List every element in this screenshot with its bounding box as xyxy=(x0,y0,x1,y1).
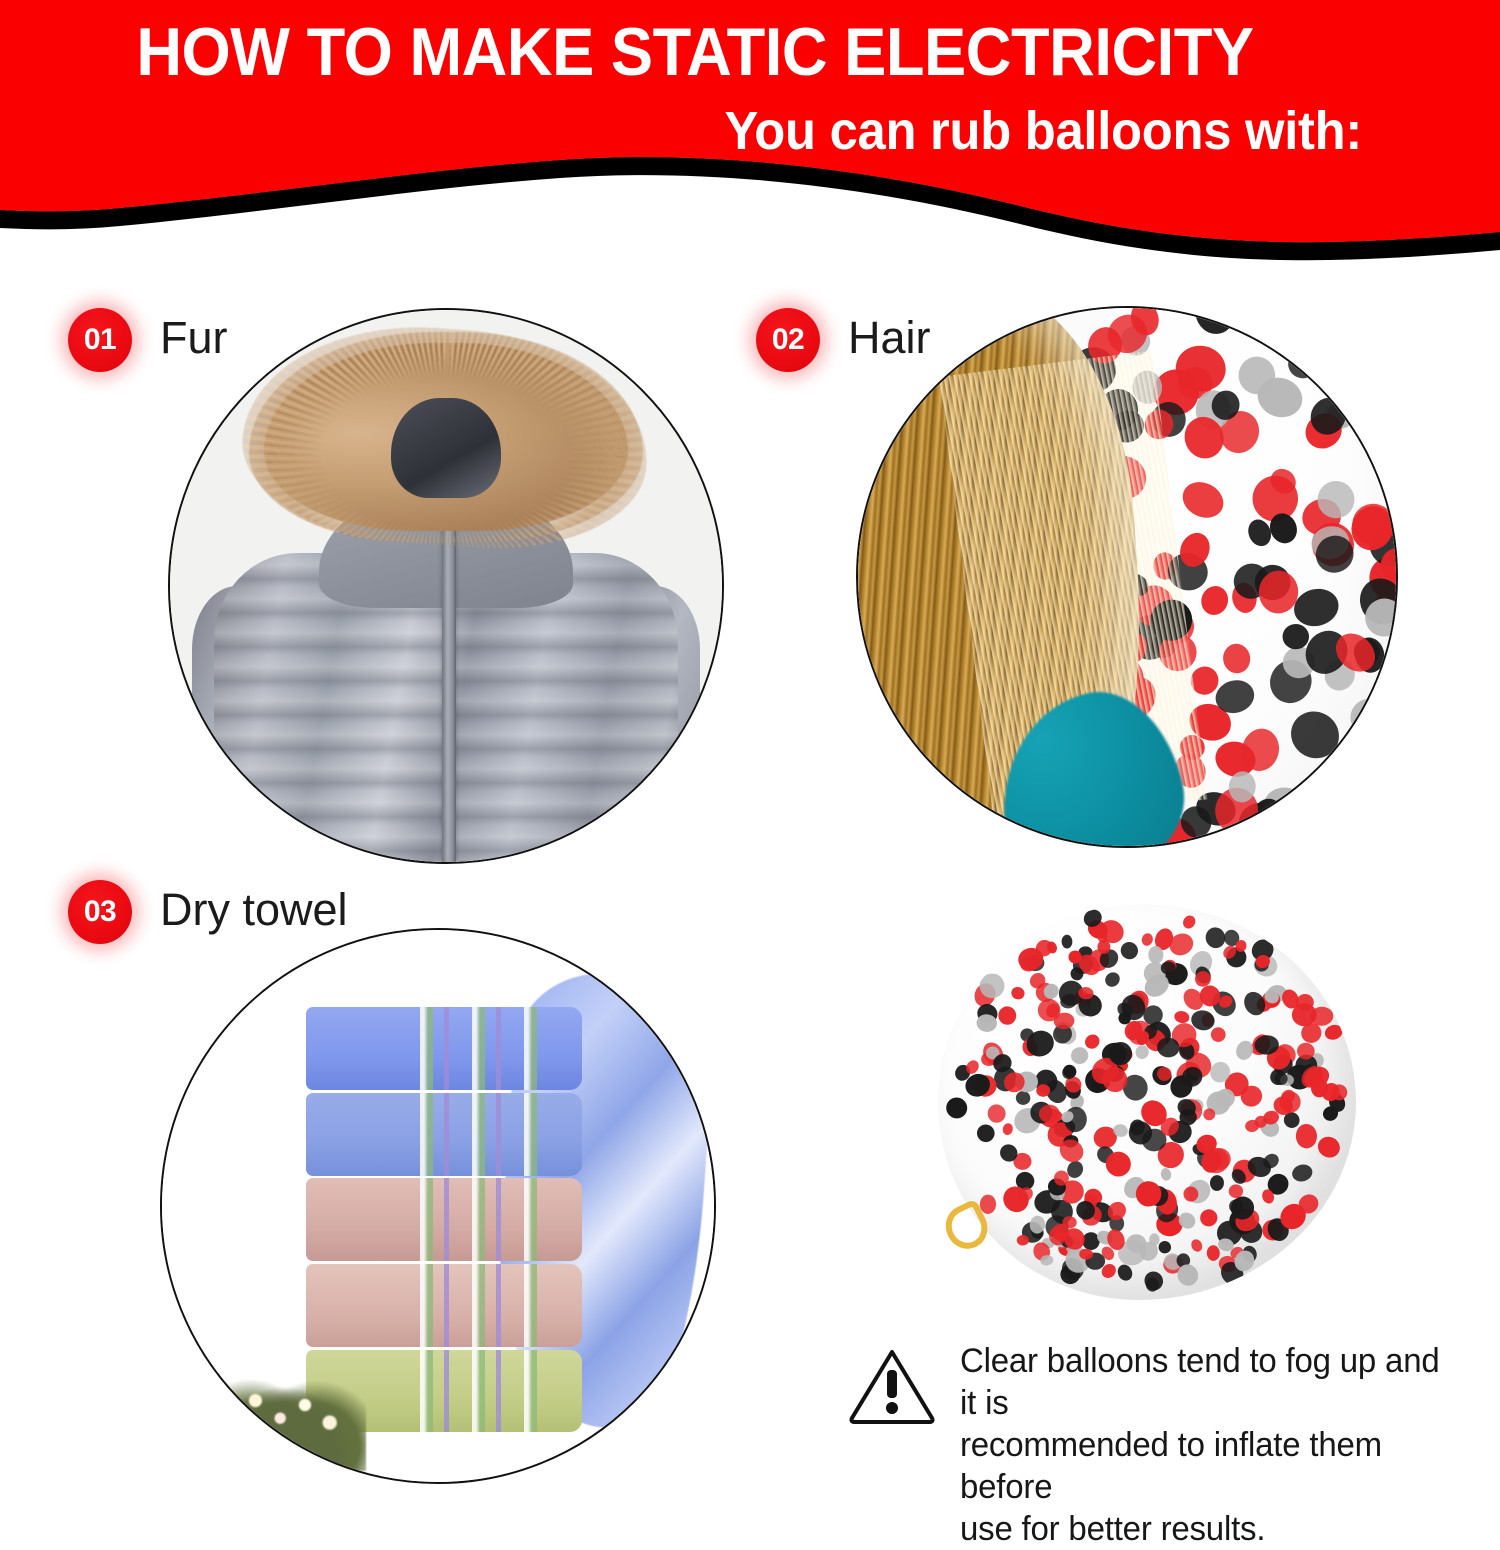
fur-jacket-illustration xyxy=(170,310,722,862)
warning-line-1: Clear balloons tend to fog up and it is xyxy=(960,1340,1443,1424)
photo-dry-towels xyxy=(160,928,716,1484)
warning-text: Clear balloons tend to fog up and it is … xyxy=(960,1340,1443,1550)
step-badge-03: 03 xyxy=(68,880,132,944)
hair-balloon-illustration xyxy=(858,308,1396,846)
warning-triangle-icon xyxy=(848,1346,936,1431)
hood-opening xyxy=(391,398,501,497)
warning-note: Clear balloons tend to fog up and it is … xyxy=(848,1340,1458,1550)
towel-blue-2 xyxy=(306,1093,582,1176)
page-subtitle: You can rub balloons with: xyxy=(82,100,1362,162)
step-label-hair: Hair xyxy=(848,312,931,364)
towel-stack-illustration xyxy=(162,930,714,1482)
photo-hair-balloon xyxy=(856,306,1398,848)
step-label-fur: Fur xyxy=(160,312,228,364)
warning-line-2: recommended to inflate them before xyxy=(960,1424,1443,1508)
towel-pink-1 xyxy=(306,1178,582,1261)
confetti-balloon-photo xyxy=(938,904,1356,1300)
balloon-confetti-dots xyxy=(938,904,1356,1300)
towel-blue-1 xyxy=(306,1007,582,1090)
white-flowers xyxy=(201,1361,367,1471)
step-badge-01: 01 xyxy=(68,308,132,372)
step-badge-02: 02 xyxy=(756,308,820,372)
towel-pink-2 xyxy=(306,1264,582,1347)
header-banner: HOW TO MAKE STATIC ELECTRICITY You can r… xyxy=(0,0,1500,270)
page-title: HOW TO MAKE STATIC ELECTRICITY xyxy=(49,14,1342,90)
header-text-block: HOW TO MAKE STATIC ELECTRICITY You can r… xyxy=(0,0,1500,200)
warning-line-3: use for better results. xyxy=(960,1508,1443,1550)
photo-fur-jacket xyxy=(168,308,724,864)
balloon-body xyxy=(938,904,1356,1300)
step-label-dry-towel: Dry towel xyxy=(160,884,348,936)
